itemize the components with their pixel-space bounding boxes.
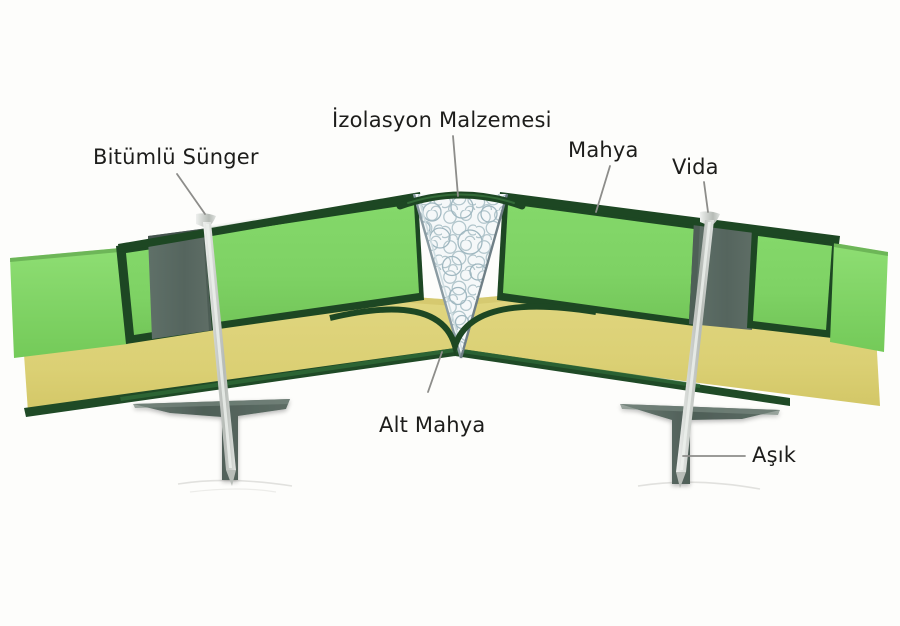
label-izolasyon-malzemesi: İzolasyon Malzemesi <box>332 108 552 132</box>
label-bitumlu-sunger: Bitümlü Sünger <box>93 145 259 169</box>
ridge-cap-panel-right <box>747 228 838 338</box>
ridge-panel-far-left <box>10 248 128 358</box>
label-vida: Vida <box>672 155 719 179</box>
label-asik: Aşık <box>752 443 796 467</box>
label-mahya: Mahya <box>568 138 639 162</box>
ridge-panel-far-right <box>830 243 888 352</box>
roof-ridge-detail-diagram: Bitümlü Sünger İzolasyon Malzemesi Mahya… <box>0 0 900 626</box>
label-alt-mahya: Alt Mahya <box>379 413 486 437</box>
diagram-artwork <box>0 0 900 626</box>
